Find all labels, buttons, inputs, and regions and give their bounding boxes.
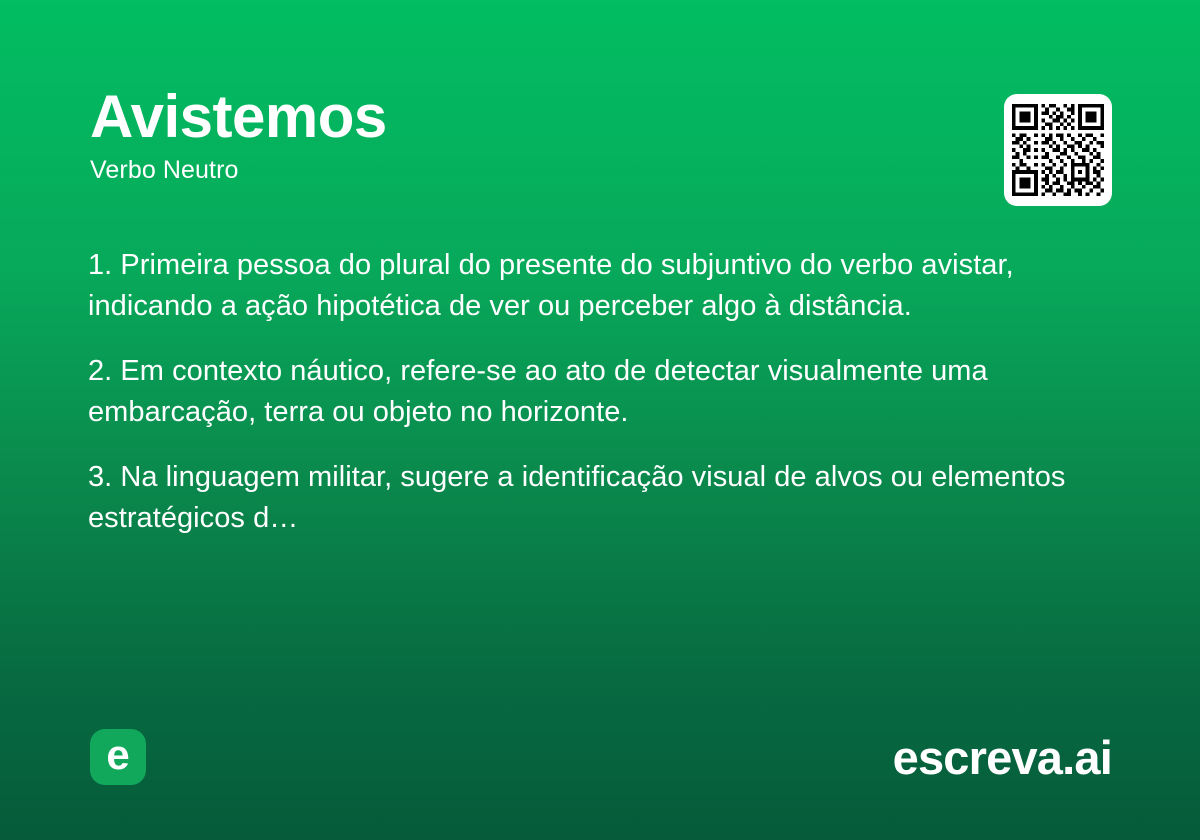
definition-item-2: 2. Em contexto náutico, refere-se ao ato… bbox=[88, 351, 1112, 432]
definition-list: 1. Primeira pessoa do plural do presente… bbox=[88, 245, 1112, 539]
definition-item-1: 1. Primeira pessoa do plural do presente… bbox=[88, 245, 1112, 326]
card-footer: e escreva.ai bbox=[90, 726, 1112, 788]
definition-item-3: 3. Na linguagem militar, sugere a identi… bbox=[88, 457, 1112, 538]
brand-wordmark: escreva.ai bbox=[893, 734, 1112, 781]
card-header: Avistemos Verbo Neutro bbox=[90, 86, 1110, 185]
word-class-label: Verbo Neutro bbox=[90, 157, 1110, 185]
qr-code-icon bbox=[1012, 104, 1104, 196]
page-title: Avistemos bbox=[90, 86, 1110, 147]
escreva-logo-icon: e bbox=[90, 729, 146, 785]
logo-letter: e bbox=[106, 734, 129, 776]
qr-code[interactable] bbox=[1004, 94, 1112, 206]
word-definition-card: Avistemos Verbo Neutro bbox=[0, 0, 1200, 840]
